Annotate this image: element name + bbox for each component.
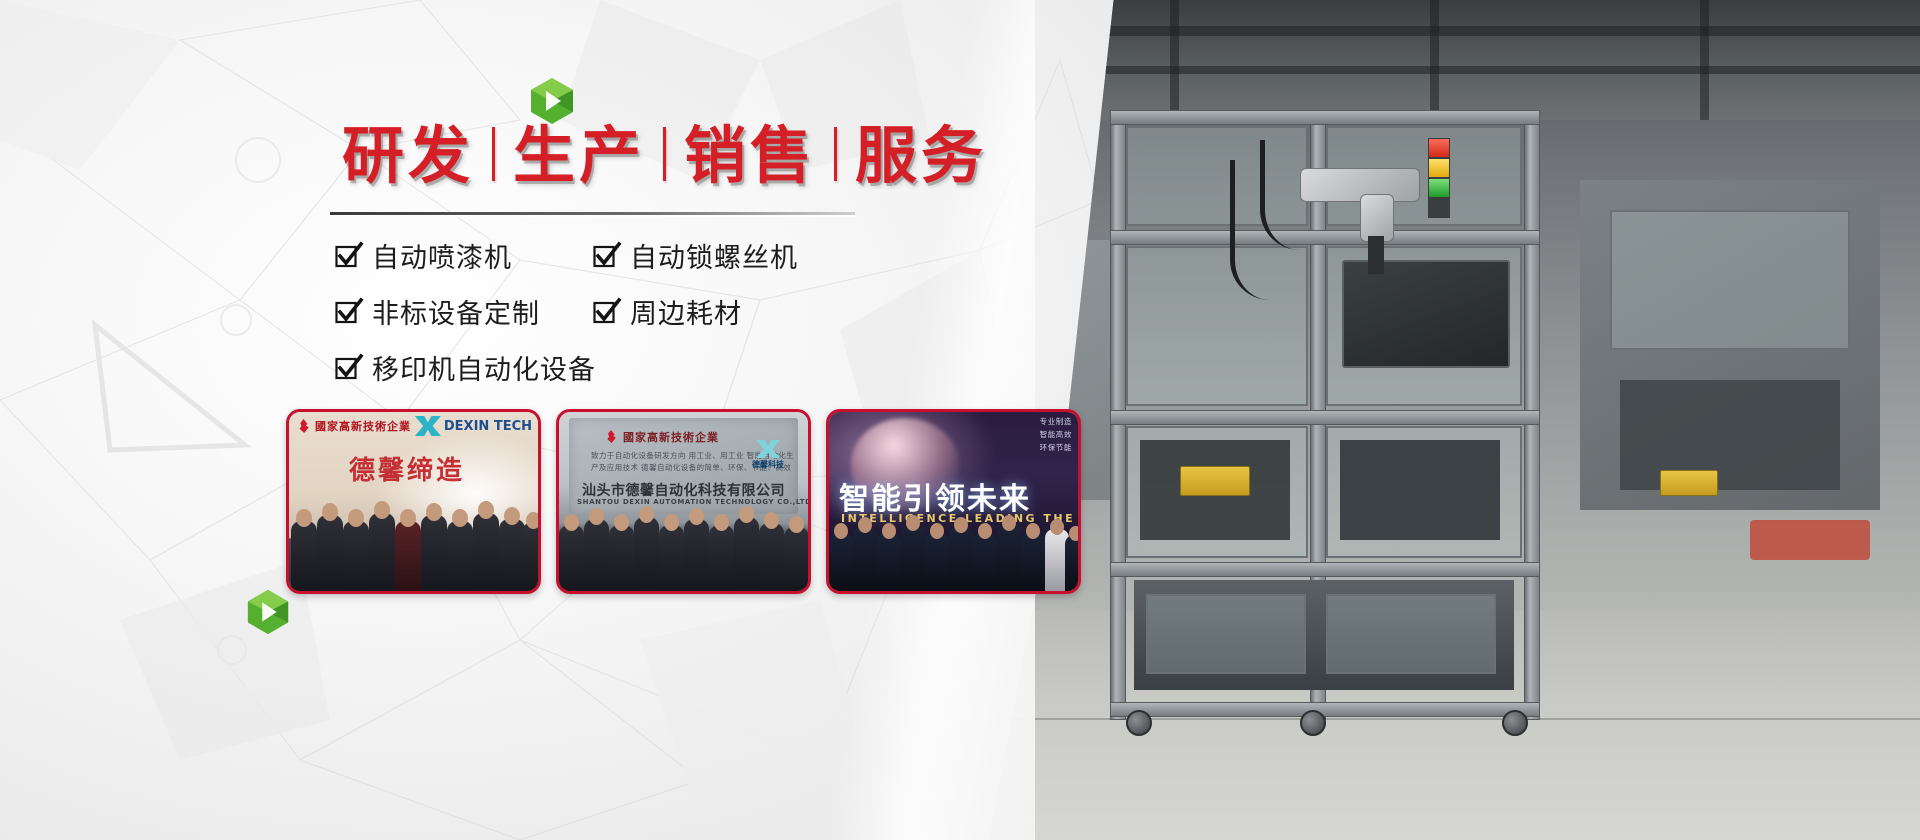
feature-label: 自动喷漆机 bbox=[372, 236, 512, 275]
thumbnail-1-slogan: 德馨缔造 bbox=[349, 450, 465, 487]
flame-icon bbox=[605, 430, 617, 443]
feature-item-5: 移印机自动化设备 bbox=[336, 348, 594, 387]
headline-word-4: 服务 bbox=[843, 125, 999, 187]
thumbnail-gallery: 國家高新技術企業 DEXIN TECH 德馨缔造 bbox=[286, 409, 1081, 594]
feature-list: 自动喷漆机 自动锁螺丝机 非标设备定制 bbox=[336, 236, 896, 387]
headline-separator bbox=[663, 127, 666, 181]
thumbnail-1-banner: 國家高新技術企業 bbox=[297, 418, 411, 434]
feature-label: 自动锁螺丝机 bbox=[630, 236, 798, 275]
checkbox-checked-icon bbox=[336, 245, 358, 267]
feature-item-2: 自动锁螺丝机 bbox=[594, 236, 852, 275]
headline-separator bbox=[834, 127, 837, 181]
thumbnail-3-tags: 专业制造 智能高效 环保节能 bbox=[1040, 416, 1072, 454]
stack-light-tower bbox=[1428, 138, 1450, 218]
thumbnail-3-group-photo bbox=[829, 519, 1078, 591]
headline-divider bbox=[330, 212, 855, 215]
flame-icon bbox=[297, 419, 310, 433]
dexin-x-logo-icon bbox=[415, 416, 441, 436]
thumbnail-1-banner-text: 國家高新技術企業 bbox=[315, 418, 411, 434]
banner-content: 研发 生产 销售 服务 自动喷漆机 bbox=[0, 0, 1000, 840]
headline-word-3: 销售 bbox=[672, 125, 828, 187]
thumbnail-3-tag-2: 智能高效 bbox=[1040, 429, 1072, 442]
hexagon-decoration-bottom bbox=[244, 588, 292, 636]
feature-label: 非标设备定制 bbox=[372, 292, 540, 331]
feature-label: 周边耗材 bbox=[630, 292, 742, 331]
thumbnail-3-tag-1: 专业制造 bbox=[1040, 416, 1072, 429]
thumbnail-1-logo: DEXIN TECH bbox=[415, 416, 532, 436]
thumbnail-2-group-photo bbox=[559, 496, 808, 591]
checkbox-checked-icon bbox=[594, 245, 616, 267]
dexin-x-logo-icon bbox=[756, 440, 780, 458]
headline: 研发 生产 销售 服务 bbox=[330, 125, 999, 187]
thumbnail-2-brand-cn: 德馨科技 bbox=[752, 459, 784, 470]
hero-banner: 研发 生产 销售 服务 自动喷漆机 bbox=[0, 0, 1920, 840]
headline-separator bbox=[492, 127, 495, 181]
feature-label: 移印机自动化设备 bbox=[372, 348, 596, 387]
thumbnail-2-logo: 德馨科技 bbox=[752, 440, 784, 470]
checkbox-checked-icon bbox=[336, 301, 358, 323]
feature-item-3: 非标设备定制 bbox=[336, 292, 594, 331]
thumbnail-2[interactable]: 國家高新技術企業 致力于自动化设备研发方向 用工业、用工业 智能自动化生产及应用… bbox=[556, 409, 811, 594]
checkbox-checked-icon bbox=[594, 301, 616, 323]
checkbox-checked-icon bbox=[336, 357, 358, 379]
feature-item-1: 自动喷漆机 bbox=[336, 236, 594, 275]
headline-word-2: 生产 bbox=[501, 125, 657, 187]
thumbnail-2-plaque-title: 國家高新技術企業 bbox=[623, 429, 719, 445]
thumbnail-1[interactable]: 國家高新技術企業 DEXIN TECH 德馨缔造 bbox=[286, 409, 541, 594]
thumbnail-3-tag-3: 环保节能 bbox=[1040, 442, 1072, 455]
headline-word-1: 研发 bbox=[330, 125, 486, 187]
thumbnail-3[interactable]: 专业制造 智能高效 环保节能 智能引领未来 INTELLIGENCE LEADI… bbox=[826, 409, 1081, 594]
factory-automation-machine-photo bbox=[960, 0, 1920, 840]
feature-item-4: 周边耗材 bbox=[594, 292, 852, 331]
thumbnail-1-group-photo bbox=[289, 496, 538, 591]
thumbnail-1-logo-text: DEXIN TECH bbox=[444, 419, 532, 434]
